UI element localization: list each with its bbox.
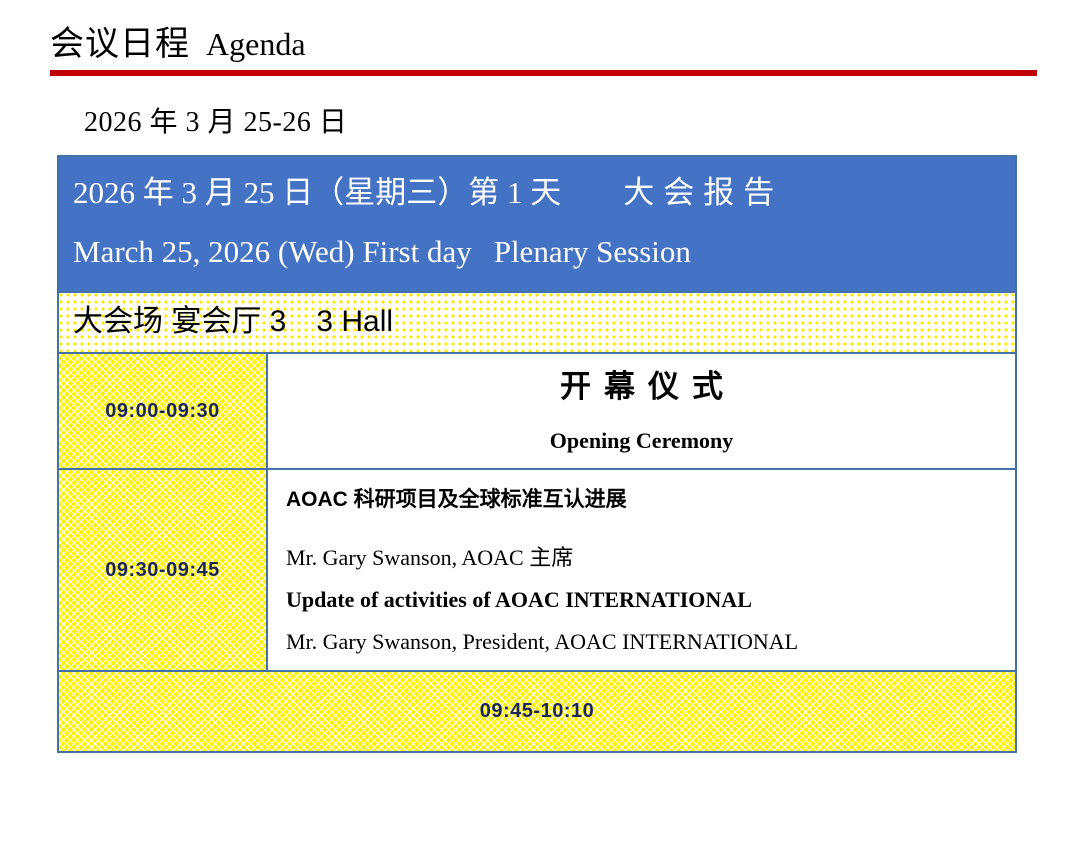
day-header-date-en: March 25, 2026 (Wed) First day (73, 234, 472, 269)
session-content-cell: AOAC 科研项目及全球标准互认进展 Mr. Gary Swanson, AOA… (268, 470, 1015, 670)
day-header: 2026 年 3 月 25 日（星期三）第 1 天大会报告 March 25, … (59, 157, 1015, 293)
table-row: 09:00-09:30 开幕仪式 Opening Ceremony (59, 354, 1015, 470)
venue-row: 大会场 宴会厅 3 3 Hall (59, 293, 1015, 355)
agenda-slide: 会议日程 Agenda 2026 年 3 月 25-26 日 2026 年 3 … (0, 0, 1080, 845)
session-speaker-en: Mr. Gary Swanson, President, AOAC INTERN… (286, 627, 997, 657)
session-title-cn: 开幕仪式 (547, 368, 736, 405)
session-title-en: Update of activities of AOAC INTERNATION… (286, 585, 997, 615)
session-content-cell: 开幕仪式 Opening Ceremony (268, 354, 1015, 468)
venue-label: 大会场 宴会厅 3 3 Hall (73, 303, 1001, 341)
session-title-en: Opening Ceremony (550, 428, 734, 454)
session-speaker-cn: Mr. Gary Swanson, AOAC 主席 (286, 543, 997, 573)
title-underline-rule (50, 70, 1037, 76)
day-header-session-en: Plenary Session (494, 234, 691, 269)
break-time-label: 09:45-10:10 (480, 700, 594, 722)
table-row: 09:30-09:45 AOAC 科研项目及全球标准互认进展 Mr. Gary … (59, 470, 1015, 672)
page-title: 会议日程 Agenda (50, 18, 1040, 70)
session-title-cn: AOAC 科研项目及全球标准互认进展 (286, 486, 997, 513)
day-header-date-cn: 2026 年 3 月 25 日（星期三）第 1 天 (73, 175, 561, 210)
session-time-cell: 09:00-09:30 (59, 354, 268, 468)
agenda-table: 2026 年 3 月 25 日（星期三）第 1 天大会报告 March 25, … (57, 155, 1017, 753)
day-header-line-en: March 25, 2026 (Wed) First dayPlenary Se… (73, 230, 1001, 275)
session-time-cell: 09:30-09:45 (59, 470, 268, 670)
page-title-en: Agenda (206, 28, 306, 60)
day-header-session-cn: 大会报告 (623, 175, 783, 210)
session-time-label: 09:30-09:45 (105, 559, 219, 582)
page-title-cn: 会议日程 (50, 27, 190, 61)
date-range-subtitle: 2026 年 3 月 25-26 日 (84, 100, 347, 140)
day-header-line-cn: 2026 年 3 月 25 日（星期三）第 1 天大会报告 (73, 171, 1001, 216)
session-time-label: 09:00-09:30 (105, 400, 219, 423)
break-row: 09:45-10:10 (59, 672, 1015, 751)
